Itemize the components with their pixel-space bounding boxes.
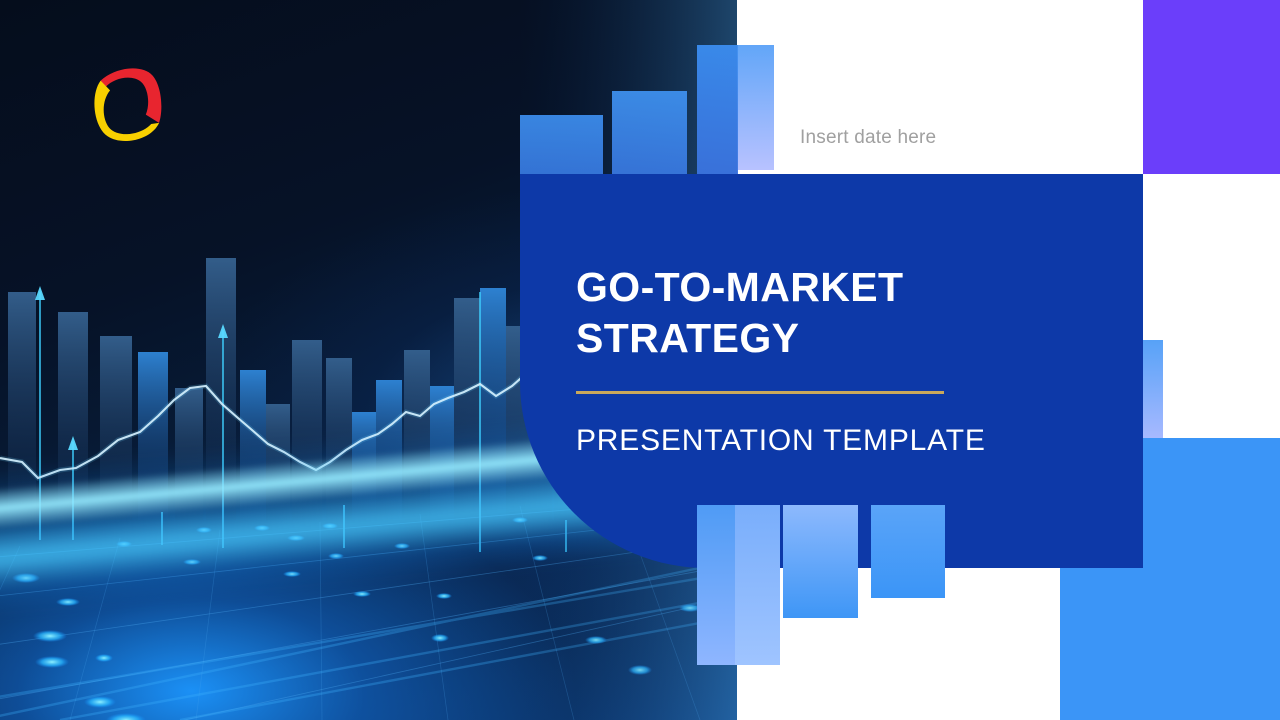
decor-bar-5: [697, 505, 735, 665]
decor-bar-4: [738, 45, 774, 170]
decor-bar-7: [783, 505, 858, 618]
logo-segment-red: [99, 65, 164, 130]
gold-divider: [576, 391, 944, 394]
decor-bar-6: [735, 505, 780, 665]
title-line-1: GO-TO-MARKET: [576, 264, 903, 310]
title-line-2: STRATEGY: [576, 315, 799, 361]
purple-accent-block: [1143, 0, 1280, 174]
title-block: GO-TO-MARKET STRATEGY PRESENTATION TEMPL…: [576, 262, 1096, 458]
title-slide: Insert date here GO-TO-MARKET STRATEGY P…: [0, 0, 1280, 720]
page-subtitle[interactable]: PRESENTATION TEMPLATE: [576, 424, 1096, 458]
page-title[interactable]: GO-TO-MARKET STRATEGY: [576, 262, 1096, 365]
date-placeholder[interactable]: Insert date here: [800, 127, 936, 149]
brand-logo[interactable]: [86, 57, 170, 149]
decor-bar-8: [871, 505, 945, 598]
